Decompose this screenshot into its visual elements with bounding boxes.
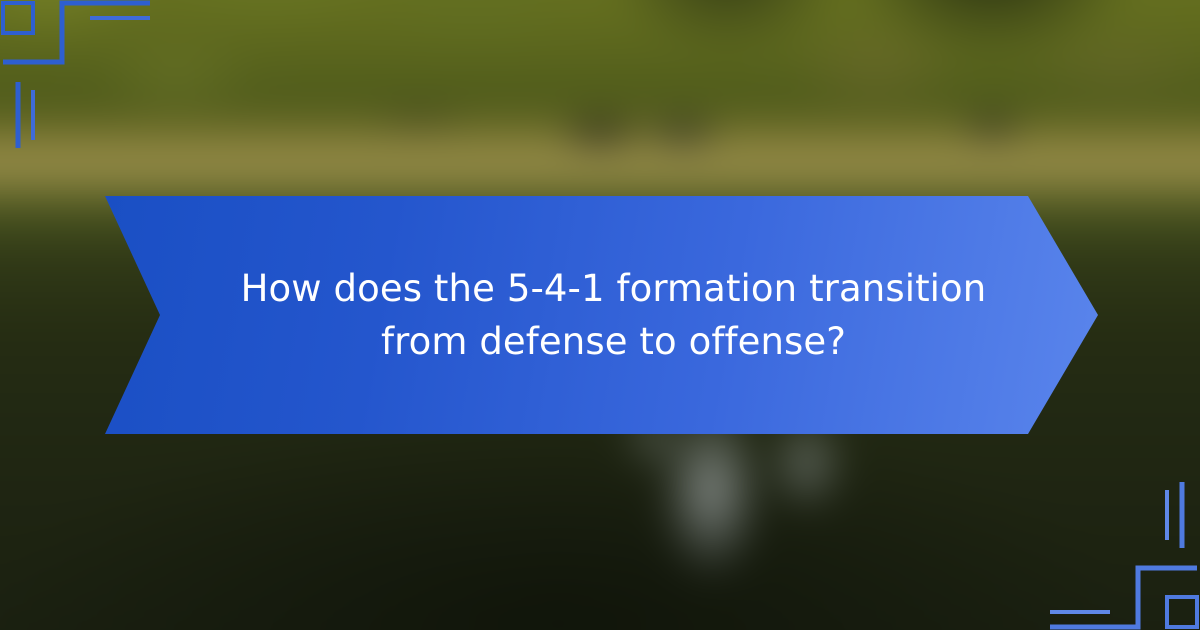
headline-banner: How does the 5-4-1 formation transition … <box>105 196 1098 434</box>
share-card: How does the 5-4-1 formation transition … <box>0 0 1200 630</box>
headline-text: How does the 5-4-1 formation transition … <box>214 262 1014 369</box>
